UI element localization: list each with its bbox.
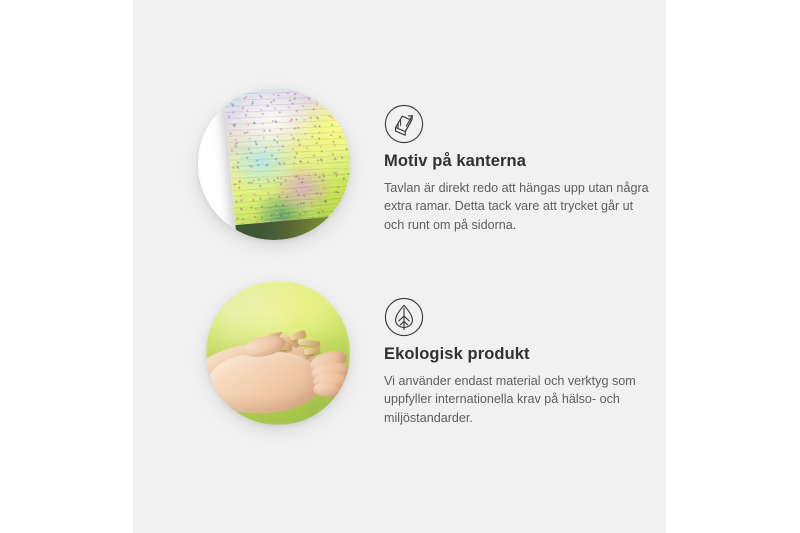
feature-text-block: Ekologisk produkt Vi använder endast mat… (384, 345, 656, 428)
canvas-wrap-edge-icon (384, 104, 424, 144)
canvas-print-image-inner (198, 88, 350, 240)
content-panel: Motiv på kanterna Tavlan är direkt redo … (133, 0, 666, 533)
hands-holding-wood-chips-photo (206, 281, 350, 425)
canvas-print-corner-photo (198, 88, 350, 240)
feature-text-block: Motiv på kanterna Tavlan är direkt redo … (384, 152, 656, 235)
feature-row-motiv-pa-kanterna: Motiv på kanterna Tavlan är direkt redo … (133, 80, 666, 255)
feature-description: Vi använder endast material och verktyg … (384, 372, 656, 428)
feature-title: Motiv på kanterna (384, 152, 656, 172)
eco-image-inner (206, 281, 350, 425)
eco-scene (206, 281, 350, 425)
feature-description: Tavlan är direkt redo att hängas upp uta… (384, 179, 656, 235)
canvas-block (223, 88, 350, 240)
feature-title: Ekologisk produkt (384, 345, 656, 365)
feature-row-ekologisk-produkt: Ekologisk produkt Vi använder endast mat… (133, 273, 666, 448)
canvas-scene (198, 88, 350, 240)
product-feature-banner: Motiv på kanterna Tavlan är direkt redo … (0, 0, 800, 533)
leaf-icon (384, 297, 424, 337)
